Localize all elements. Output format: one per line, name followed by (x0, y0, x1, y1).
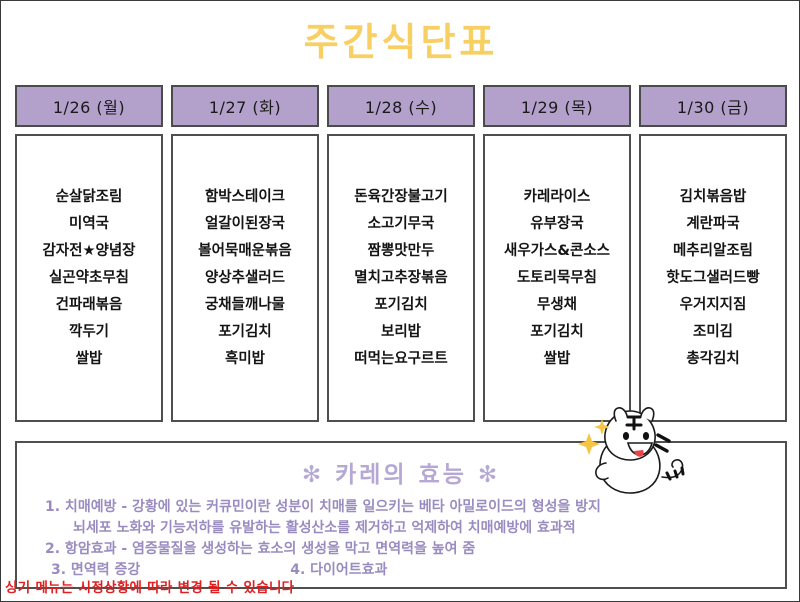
menu-item: 멸치고추장볶음 (354, 265, 447, 292)
benefit-line-1: 1. 치매예방 - 강황에 있는 커큐민이란 성분이 치매를 일으키는 베타 아… (33, 497, 769, 518)
menu-item: 쌀밥 (544, 346, 571, 373)
page-title-bar: 주간식단표 (1, 19, 800, 65)
menu-item: 미역국 (69, 211, 109, 238)
menu-list-tuesday: 함박스테이크 얼갈이된장국 볼어묵매운볶음 양상추샐러드 궁채들깨나물 포기김치… (171, 134, 319, 422)
menu-item: 건파래볶음 (56, 292, 123, 319)
menu-item: 함박스테이크 (205, 184, 285, 211)
benefit-line-4: 4. 다이어트효과 (290, 560, 387, 581)
menu-list-friday: 김치볶음밥 계란파국 메추리알조림 핫도그샐러드빵 우거지지짐 조미김 총각김치 (639, 134, 787, 422)
day-header-friday: 1/30 (금) (639, 85, 787, 127)
menu-item: 깍두기 (69, 319, 109, 346)
day-header-tuesday: 1/27 (화) (171, 85, 319, 127)
menu-item: 짬뽕맛만두 (368, 238, 435, 265)
menu-item: 소고기무국 (368, 211, 435, 238)
menu-item: 도토리묵무침 (517, 265, 597, 292)
curry-benefits-title: ✻ 카레의 효능 ✻ (17, 455, 785, 489)
day-column-friday: 1/30 (금) 김치볶음밥 계란파국 메추리알조림 핫도그샐러드빵 우거지지짐… (639, 85, 787, 422)
menu-item: 포기김치 (374, 292, 427, 319)
day-column-wednesday: 1/28 (수) 돈육간장불고기 소고기무국 짬뽕맛만두 멸치고추장볶음 포기김… (327, 85, 475, 422)
menu-item: 보리밥 (381, 319, 421, 346)
page-title: 주간식단표 (1, 19, 800, 65)
benefit-line-2: 2. 항암효과 - 염증물질을 생성하는 효소의 생성을 막고 면역력을 높여 … (33, 539, 769, 560)
menu-item: 궁채들깨나물 (205, 292, 285, 319)
menu-item: 볼어묵매운볶음 (198, 238, 291, 265)
menu-item: 돈육간장불고기 (354, 184, 447, 211)
menu-list-thursday: 카레라이스 유부장국 새우가스&콘소스 도토리묵무침 무생채 포기김치 쌀밥 (483, 134, 631, 422)
day-column-thursday: 1/29 (목) 카레라이스 유부장국 새우가스&콘소스 도토리묵무침 무생채 … (483, 85, 631, 422)
curry-benefits-panel: ✻ 카레의 효능 ✻ 1. 치매예방 - 강황에 있는 커큐민이란 성분이 치매… (15, 441, 787, 589)
menu-item: 포기김치 (218, 319, 271, 346)
menu-item: 양상추샐러드 (205, 265, 285, 292)
menu-list-monday: 순살닭조림 미역국 감자전★양념장 실곤약초무침 건파래볶음 깍두기 쌀밥 (15, 134, 163, 422)
menu-list-wednesday: 돈육간장불고기 소고기무국 짬뽕맛만두 멸치고추장볶음 포기김치 보리밥 떠먹는… (327, 134, 475, 422)
menu-item: 메추리알조림 (673, 238, 753, 265)
day-header-wednesday: 1/28 (수) (327, 85, 475, 127)
menu-item: 핫도그샐러드빵 (666, 265, 759, 292)
menu-item: 우거지지짐 (680, 292, 747, 319)
menu-item: 카레라이스 (524, 184, 591, 211)
menu-item: 새우가스&콘소스 (504, 238, 610, 265)
menu-item: 떠먹는요구르트 (354, 346, 447, 373)
meal-plan-page: 주간식단표 1/26 (월) 순살닭조림 미역국 감자전★양념장 실곤약초무침 … (0, 0, 800, 602)
menu-item: 실곤약초무침 (49, 265, 129, 292)
menu-item: 조미김 (693, 319, 733, 346)
menu-item: 얼갈이된장국 (205, 211, 285, 238)
day-column-tuesday: 1/27 (화) 함박스테이크 얼갈이된장국 볼어묵매운볶음 양상추샐러드 궁채… (171, 85, 319, 422)
menu-item: 계란파국 (686, 211, 739, 238)
menu-item: 포기김치 (530, 319, 583, 346)
day-header-thursday: 1/29 (목) (483, 85, 631, 127)
menu-item: 흑미밥 (225, 346, 265, 373)
menu-item: 무생채 (537, 292, 577, 319)
day-column-monday: 1/26 (월) 순살닭조림 미역국 감자전★양념장 실곤약초무침 건파래볶음 … (15, 85, 163, 422)
weekly-menu-grid: 1/26 (월) 순살닭조림 미역국 감자전★양념장 실곤약초무침 건파래볶음 … (15, 85, 787, 422)
menu-item: 총각김치 (686, 346, 739, 373)
curry-benefits-body: 1. 치매예방 - 강황에 있는 커큐민이란 성분이 치매를 일으키는 베타 아… (17, 497, 785, 581)
benefit-line-1-cont: 뇌세포 노화와 기능저하를 유발하는 활성산소를 제거하고 억제하여 치매예방에… (33, 518, 769, 539)
menu-item: 유부장국 (530, 211, 583, 238)
disclaimer-text: 싱기 메뉴는 시정상황에 따라 변경 될 수 있습니다 (5, 576, 294, 596)
menu-item: 김치볶음밥 (680, 184, 747, 211)
menu-item: 순살닭조림 (56, 184, 123, 211)
day-header-monday: 1/26 (월) (15, 85, 163, 127)
menu-item: 감자전★양념장 (42, 238, 135, 265)
menu-item: 쌀밥 (76, 346, 103, 373)
